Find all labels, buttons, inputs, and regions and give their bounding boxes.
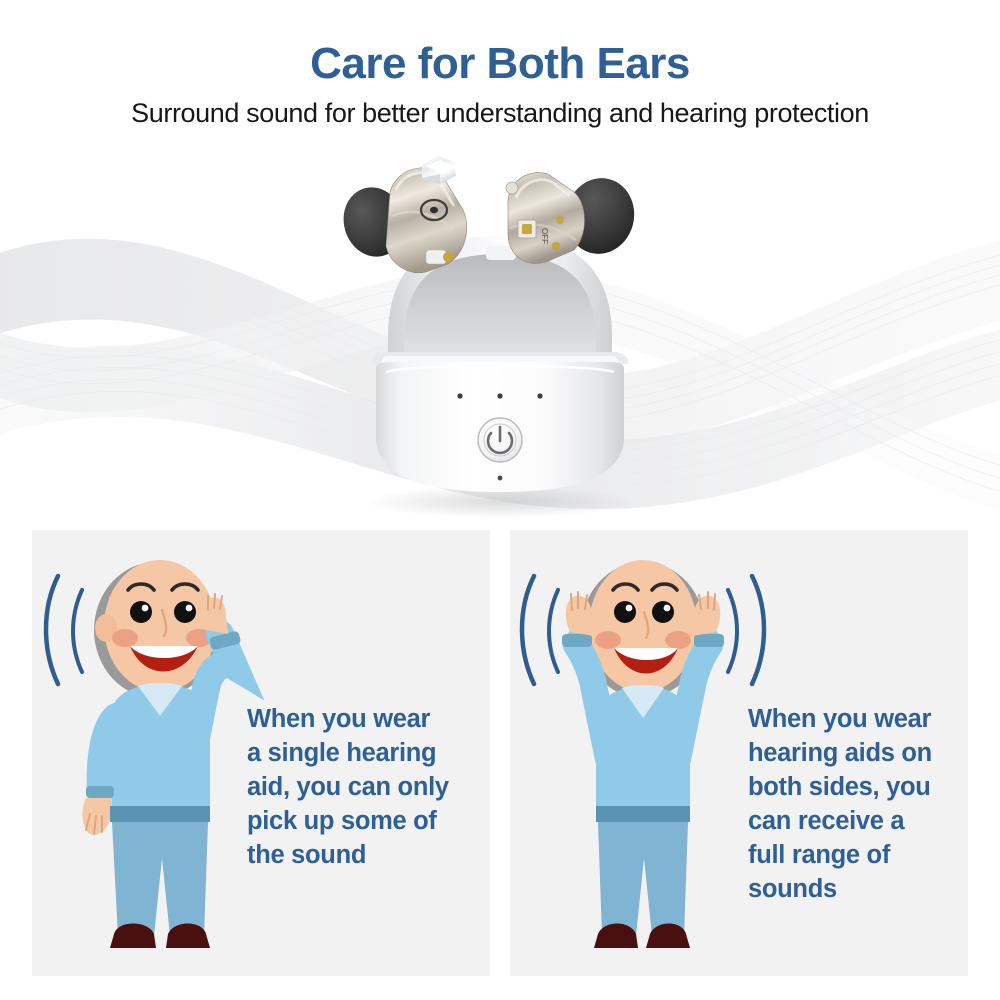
comparison-panels: When you wear a single hearing aid, you … [0,530,1000,976]
cuff-left [562,634,592,647]
eye-right [652,601,674,623]
eye-left [614,601,636,623]
product-infographic-page: Care for Both Ears Surround sound for be… [0,0,1000,1000]
reset-pinhole [498,476,503,481]
hearing-aid-right: OFF [506,172,641,264]
page-subtitle: Surround sound for better understanding … [0,86,1000,129]
cheek-left [595,631,621,649]
led-indicator-3 [537,393,542,398]
off-label: OFF [540,228,549,244]
eye-left [130,601,152,623]
eye-right [174,601,196,623]
power-button [478,418,522,462]
header: Care for Both Ears Surround sound for be… [0,0,1000,129]
belt [596,806,690,822]
page-title: Care for Both Ears [0,0,1000,86]
pants [598,822,688,936]
hearing-aid-left [336,156,467,273]
cuff-down [86,786,114,798]
elderly-man-cupping-one-ear-illustration [38,538,268,968]
led-indicator-2 [497,393,502,398]
belt [110,806,210,822]
charging-case-base [372,352,628,492]
program-knob-right [506,182,518,194]
cheek-right [665,631,691,649]
panel-both-text: When you wear hearing aids on both sides… [748,703,968,906]
single-hearing-aid-panel: When you wear a single hearing aid, you … [32,530,490,976]
elderly-man-cupping-both-ears-illustration [518,538,768,968]
cheek-left [112,629,138,647]
led-indicator-1 [457,393,462,398]
charge-contact-b [552,242,560,250]
cuff-right [694,634,724,647]
receiver-contact-left [426,250,453,264]
product-image-hearing-aids-with-case: OFF [330,150,670,520]
pants [112,822,208,936]
panel-single-text: When you wear a single hearing aid, you … [247,703,487,873]
both-hearing-aids-panel: When you wear hearing aids on both sides… [510,530,968,976]
charge-contact-a [556,216,564,224]
